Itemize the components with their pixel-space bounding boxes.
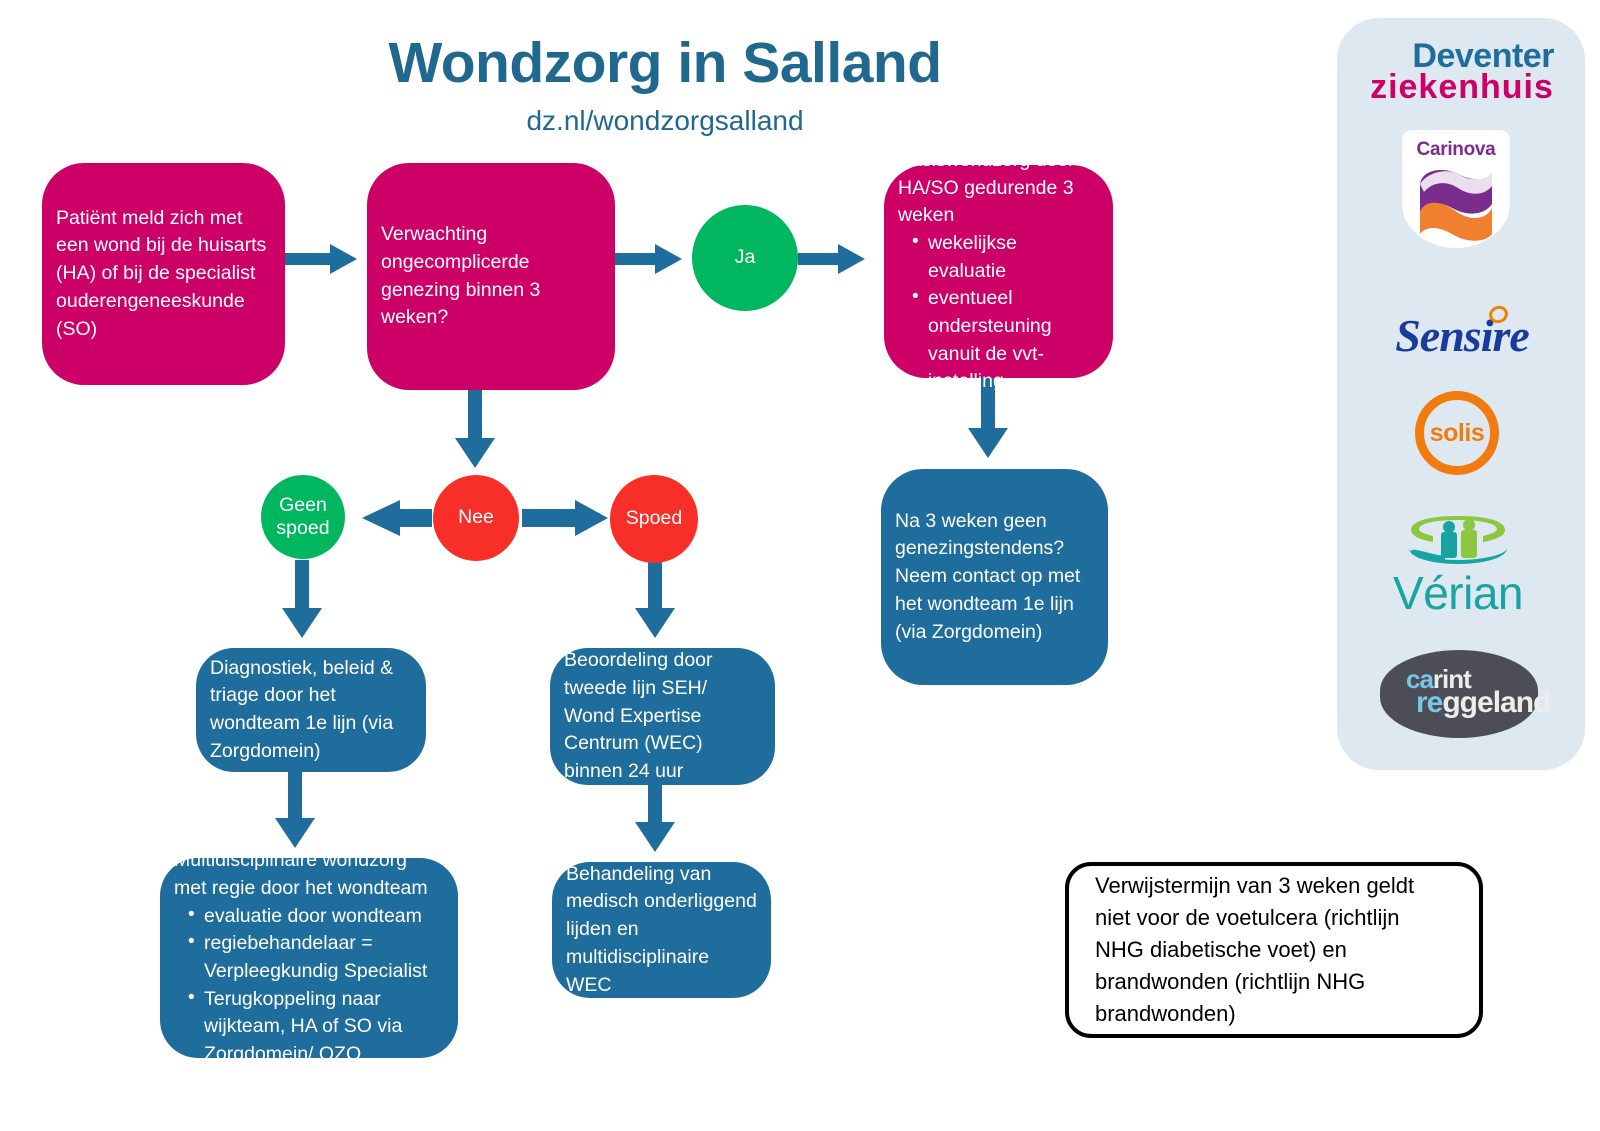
- decision-label: Nee: [458, 506, 494, 529]
- deventer-ziekenhuis-wordmark: Deventer ziekenhuis: [1370, 41, 1554, 104]
- node-diagnostiek-triage: Diagnostiek, beleid & triage door het wo…: [196, 648, 426, 772]
- node-bullet-list: evaluatie door wondteam regiebehandelaar…: [174, 903, 444, 1069]
- list-item: Terugkoppeling naar wijkteam, HA of SO v…: [204, 986, 444, 1069]
- arrow-nee-to-geenspoed: [362, 500, 432, 536]
- diagram-canvas: Wondzorg in Salland dz.nl/wondzorgsallan…: [0, 0, 1600, 1131]
- node-text: Behandeling van medisch onderliggend lij…: [552, 861, 771, 999]
- list-item: wekelijkse evaluatie: [928, 230, 1099, 285]
- logo-solis: solis: [1412, 388, 1502, 478]
- node-text: Multidisciplinaire wondzorg met regie do…: [174, 847, 444, 902]
- node-text: Basiswondzorg door HA/SO gedurende 3 wek…: [898, 147, 1099, 230]
- page-title: Wondzorg in Salland: [0, 30, 1330, 96]
- logo-verian-wordmark-slot: Vérian: [1368, 565, 1548, 621]
- verian-mark-icon: [1403, 514, 1513, 566]
- node-text: Patiënt meld zich met een wond bij de hu…: [42, 205, 285, 343]
- decision-nee: Nee: [433, 475, 519, 561]
- solis-wordmark: solis: [1430, 419, 1484, 448]
- carinova-wordmark: Carinova: [1402, 139, 1510, 161]
- node-text: Beoordeling door tweede lijn SEH/ Wond E…: [550, 647, 775, 785]
- verian-wordmark: Vérian: [1393, 566, 1523, 620]
- carinova-shield-icon: Carinova: [1402, 130, 1510, 248]
- node-text: Na 3 weken geen genezingstendens? Neem c…: [881, 508, 1108, 646]
- node-bullet-list: wekelijkse evaluatie eventueel ondersteu…: [898, 230, 1099, 396]
- arrow-start-to-question: [285, 244, 357, 274]
- arrow-diagnostiek-to-multidisciplinair: [275, 770, 315, 848]
- arrow-question-to-nee: [455, 390, 495, 468]
- carint-reggeland-blob-icon: carint reggeland: [1380, 650, 1538, 738]
- logo-carinova: Carinova: [1400, 128, 1512, 250]
- solis-ring-icon: solis: [1415, 391, 1499, 475]
- node-beoordeling-tweede-lijn: Beoordeling door tweede lijn SEH/ Wond E…: [550, 648, 775, 785]
- node-na-3-weken: Na 3 weken geen genezingstendens? Neem c…: [881, 469, 1108, 685]
- arrow-question-to-ja: [615, 244, 682, 274]
- node-basiswondzorg: Basiswondzorg door HA/SO gedurende 3 wek…: [884, 165, 1113, 378]
- decision-label: Ja: [735, 246, 756, 269]
- sensire-wordmark-wrap: Sensire: [1395, 309, 1529, 362]
- decision-label: Spoed: [626, 507, 682, 530]
- decision-label: Geen spoed: [276, 494, 329, 541]
- logo-deventer-ziekenhuis: Deventer ziekenhuis: [1352, 36, 1572, 108]
- decision-spoed: Spoed: [610, 475, 698, 563]
- logo-verian: [1390, 512, 1526, 568]
- logo-carint-reggeland: carint reggeland: [1378, 648, 1540, 740]
- node-text: Verwachting ongecomplicerde genezing bin…: [367, 221, 615, 332]
- arrow-geenspoed-to-diagnostiek: [282, 560, 322, 638]
- list-item: eventueel ondersteuning vanuit de vvt-in…: [928, 285, 1099, 396]
- carint-line2: reggeland: [1416, 686, 1550, 720]
- node-verwachting-genezing: Verwachting ongecomplicerde genezing bin…: [367, 163, 615, 390]
- node-text: Diagnostiek, beleid & triage door het wo…: [196, 655, 426, 766]
- carint-ggeland: ggeland: [1442, 686, 1550, 719]
- node-patient-meldt-zich: Patiënt meld zich met een wond bij de hu…: [42, 163, 285, 385]
- deventer-line2: ziekenhuis: [1370, 72, 1554, 103]
- node-body: Basiswondzorg door HA/SO gedurende 3 wek…: [884, 147, 1113, 396]
- sensire-wordmark: Sensire: [1395, 310, 1529, 361]
- footnote-box: Verwijstermijn van 3 weken geldt niet vo…: [1065, 862, 1483, 1038]
- arrow-beoordeling-to-behandeling: [635, 782, 675, 852]
- footnote-text: Verwijstermijn van 3 weken geldt niet vo…: [1095, 870, 1453, 1029]
- arrow-spoed-to-beoordeling: [635, 562, 675, 638]
- arrow-ja-to-basiswondzorg: [798, 244, 865, 274]
- list-item: regiebehandelaar = Verpleegkundig Specia…: [204, 930, 444, 985]
- carint-re: re: [1416, 686, 1442, 719]
- node-behandeling-medisch: Behandeling van medisch onderliggend lij…: [552, 862, 771, 998]
- decision-geen-spoed: Geen spoed: [261, 475, 345, 559]
- node-body: Multidisciplinaire wondzorg met regie do…: [160, 847, 458, 1069]
- arrow-nee-to-spoed: [522, 500, 608, 536]
- list-item: evaluatie door wondteam: [204, 903, 444, 931]
- node-multidisciplinaire-wondzorg: Multidisciplinaire wondzorg met regie do…: [160, 858, 458, 1058]
- logo-sensire: Sensire: [1352, 305, 1572, 365]
- page-subtitle-url: dz.nl/wondzorgsalland: [0, 105, 1330, 137]
- decision-ja: Ja: [692, 205, 798, 311]
